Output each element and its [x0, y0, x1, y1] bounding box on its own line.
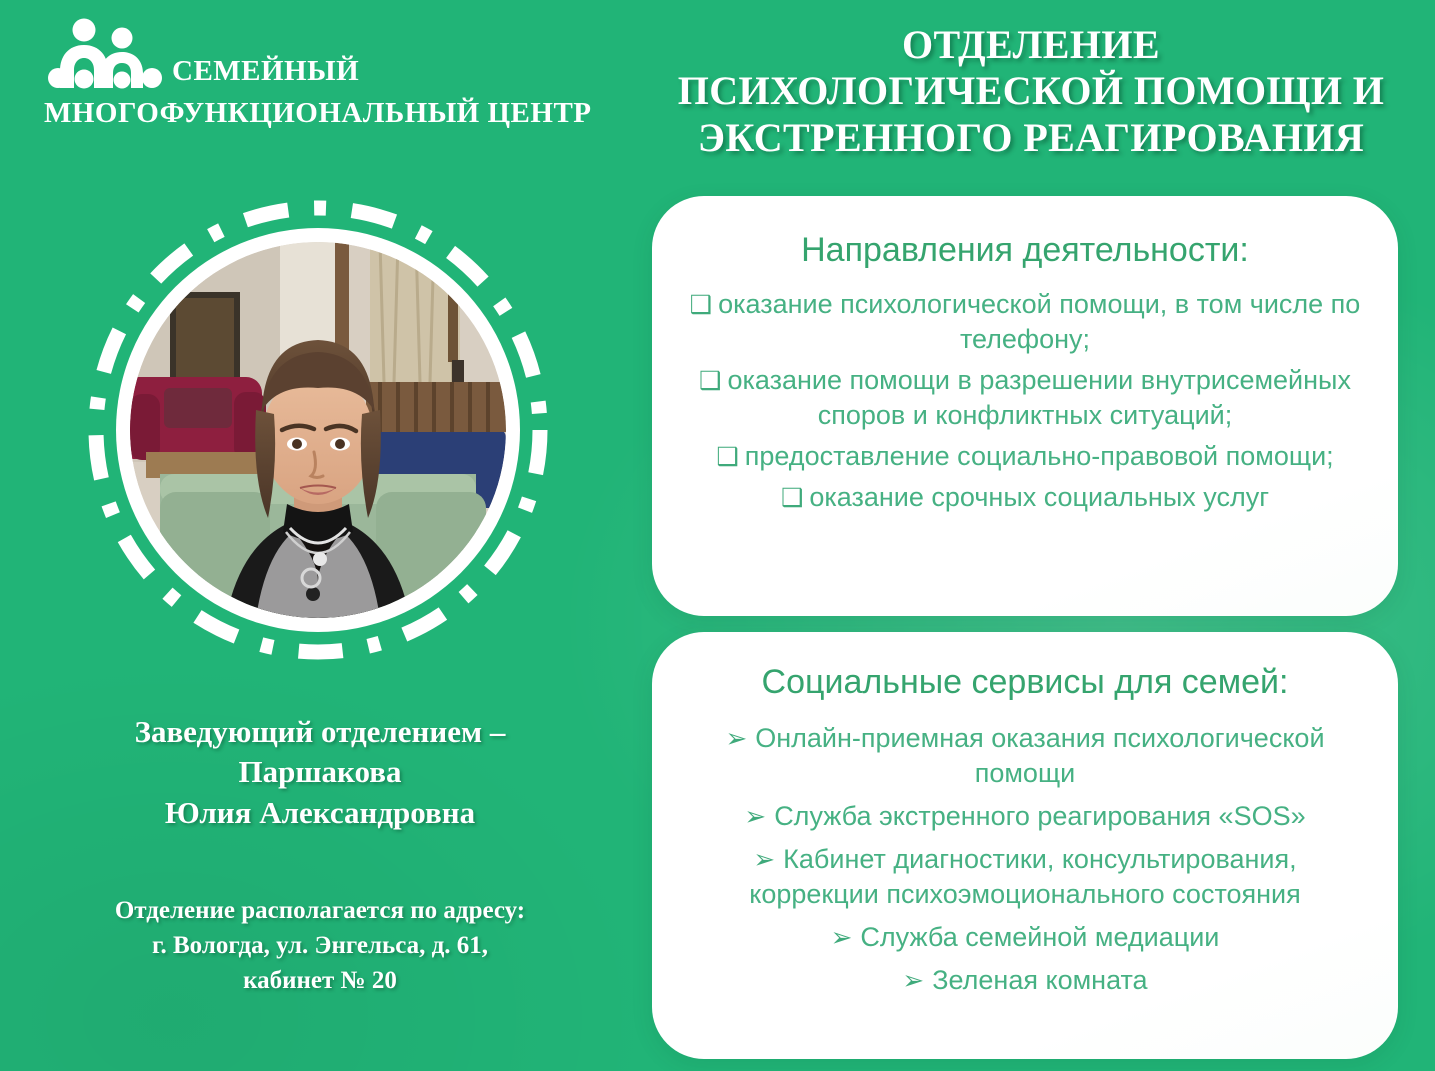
list-item-label: предоставление социально-правовой помощи…	[745, 441, 1334, 471]
square-bullet-icon: ❑	[690, 291, 712, 319]
square-bullet-icon: ❑	[699, 367, 721, 395]
list-item-label: оказание помощи в разрешении внутрисемей…	[727, 365, 1351, 430]
list-item-label: Зеленая комната	[932, 965, 1147, 995]
list-item-label: оказание срочных социальных услуг	[809, 482, 1269, 512]
list-item-label: Онлайн-приемная оказания психологической…	[755, 723, 1324, 788]
page-title-line-1: ОТДЕЛЕНИЕ	[636, 22, 1426, 68]
logo-text-line2: МНОГОФУНКЦИОНАЛЬНЫЙ ЦЕНТР	[44, 97, 624, 130]
logo-text-line1: СЕМЕЙНЫЙ	[172, 57, 359, 90]
family-logo-icon	[44, 18, 166, 90]
address-block: Отделение располагается по адресу: г. Во…	[10, 893, 630, 998]
address-line-1: Отделение располагается по адресу:	[10, 893, 630, 928]
list-item: ➢Онлайн-приемная оказания психологическо…	[686, 721, 1364, 791]
staff-name-block: Заведующий отделением – Паршакова Юлия А…	[10, 712, 630, 833]
activity-list: ❑оказание психологической помощи, в том …	[652, 287, 1398, 516]
list-item-label: Служба семейной медиации	[860, 922, 1219, 952]
address-line-3: кабинет № 20	[10, 963, 630, 998]
list-item: ➢Зеленая комната	[686, 963, 1364, 998]
services-list: ➢Онлайн-приемная оказания психологическо…	[652, 721, 1398, 999]
arrow-bullet-icon: ➢	[744, 801, 766, 831]
list-item: ➢Служба семейной медиации	[686, 920, 1364, 955]
activity-card: Направления деятельности: ❑оказание псих…	[652, 196, 1398, 616]
activity-card-title: Направления деятельности:	[652, 230, 1398, 271]
list-item-label: Кабинет диагностики, консультирования, к…	[749, 844, 1301, 909]
page-title-line-3: ЭКСТРЕННОГО РЕАГИРОВАНИЯ	[636, 115, 1426, 161]
arrow-bullet-icon: ➢	[725, 723, 747, 753]
staff-surname: Паршакова	[10, 752, 630, 792]
list-item: ❑оказание срочных социальных услуг	[678, 480, 1372, 515]
list-item-label: оказание психологической помощи, в том ч…	[718, 289, 1360, 354]
list-item: ❑оказание помощи в разрешении внутрисеме…	[678, 363, 1372, 433]
square-bullet-icon: ❑	[781, 484, 803, 512]
brand-logo: СЕМЕЙНЫЙ МНОГОФУНКЦИОНАЛЬНЫЙ ЦЕНТР	[44, 18, 624, 130]
staff-photo-block	[78, 190, 558, 670]
list-item: ➢Кабинет диагностики, консультирования, …	[686, 842, 1364, 912]
list-item: ❑предоставление социально-правовой помощ…	[678, 439, 1372, 474]
staff-role: Заведующий отделением –	[10, 712, 630, 752]
arrow-bullet-icon: ➢	[902, 965, 924, 995]
arrow-bullet-icon: ➢	[831, 922, 853, 952]
services-card: Социальные сервисы для семей: ➢Онлайн-пр…	[652, 632, 1398, 1059]
page-title: ОТДЕЛЕНИЕ ПСИХОЛОГИЧЕСКОЙ ПОМОЩИ И ЭКСТР…	[636, 22, 1426, 161]
list-item: ❑оказание психологической помощи, в том …	[678, 287, 1372, 357]
list-item-label: Служба экстренного реагирования «SOS»	[774, 801, 1305, 831]
list-item: ➢Служба экстренного реагирования «SOS»	[686, 799, 1364, 834]
page-title-line-2: ПСИХОЛОГИЧЕСКОЙ ПОМОЩИ И	[636, 68, 1426, 114]
address-line-2: г. Вологда, ул. Энгельса, д. 61,	[10, 928, 630, 963]
arrow-bullet-icon: ➢	[753, 844, 775, 874]
services-card-title: Социальные сервисы для семей:	[652, 662, 1398, 703]
staff-given-name: Юлия Александровна	[10, 793, 630, 833]
square-bullet-icon: ❑	[716, 443, 738, 471]
avatar	[130, 242, 506, 618]
